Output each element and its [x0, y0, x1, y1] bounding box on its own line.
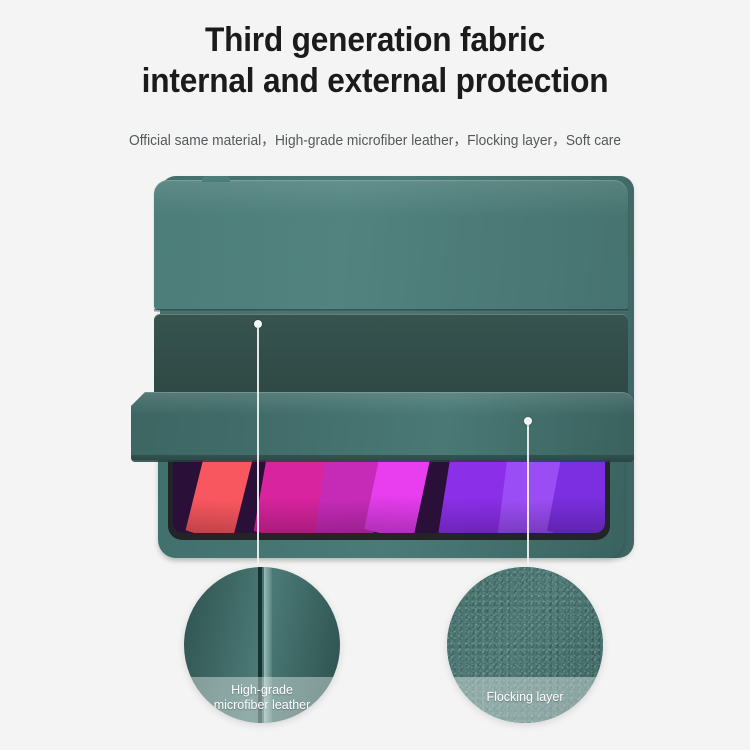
- callout-leader-line-left: [257, 328, 259, 570]
- callout-caption-left: High-grade microfiber leather: [184, 677, 340, 723]
- callout-anchor-dot-right: [524, 417, 532, 425]
- case-fold-seam: [154, 309, 628, 312]
- product-marketing-banner: Third generation fabric internal and ext…: [0, 0, 750, 750]
- callout-leader-line-right: [527, 425, 529, 570]
- case-cover-top-panel: [154, 180, 628, 310]
- case-front-flap: [131, 392, 634, 460]
- product-image: [0, 0, 750, 580]
- case-front-flap-edge: [131, 455, 634, 462]
- callout-caption-right-line-1: Flocking layer: [451, 690, 599, 705]
- callout-microfiber-leather: High-grade microfiber leather: [184, 567, 340, 723]
- callout-caption-right: Flocking layer: [447, 677, 603, 723]
- callout-flocking-layer: Flocking layer: [447, 567, 603, 723]
- callout-caption-left-line-2: microfiber leather: [188, 698, 336, 713]
- callout-caption-left-line-1: High-grade: [188, 683, 336, 698]
- callout-anchor-dot-left: [254, 320, 262, 328]
